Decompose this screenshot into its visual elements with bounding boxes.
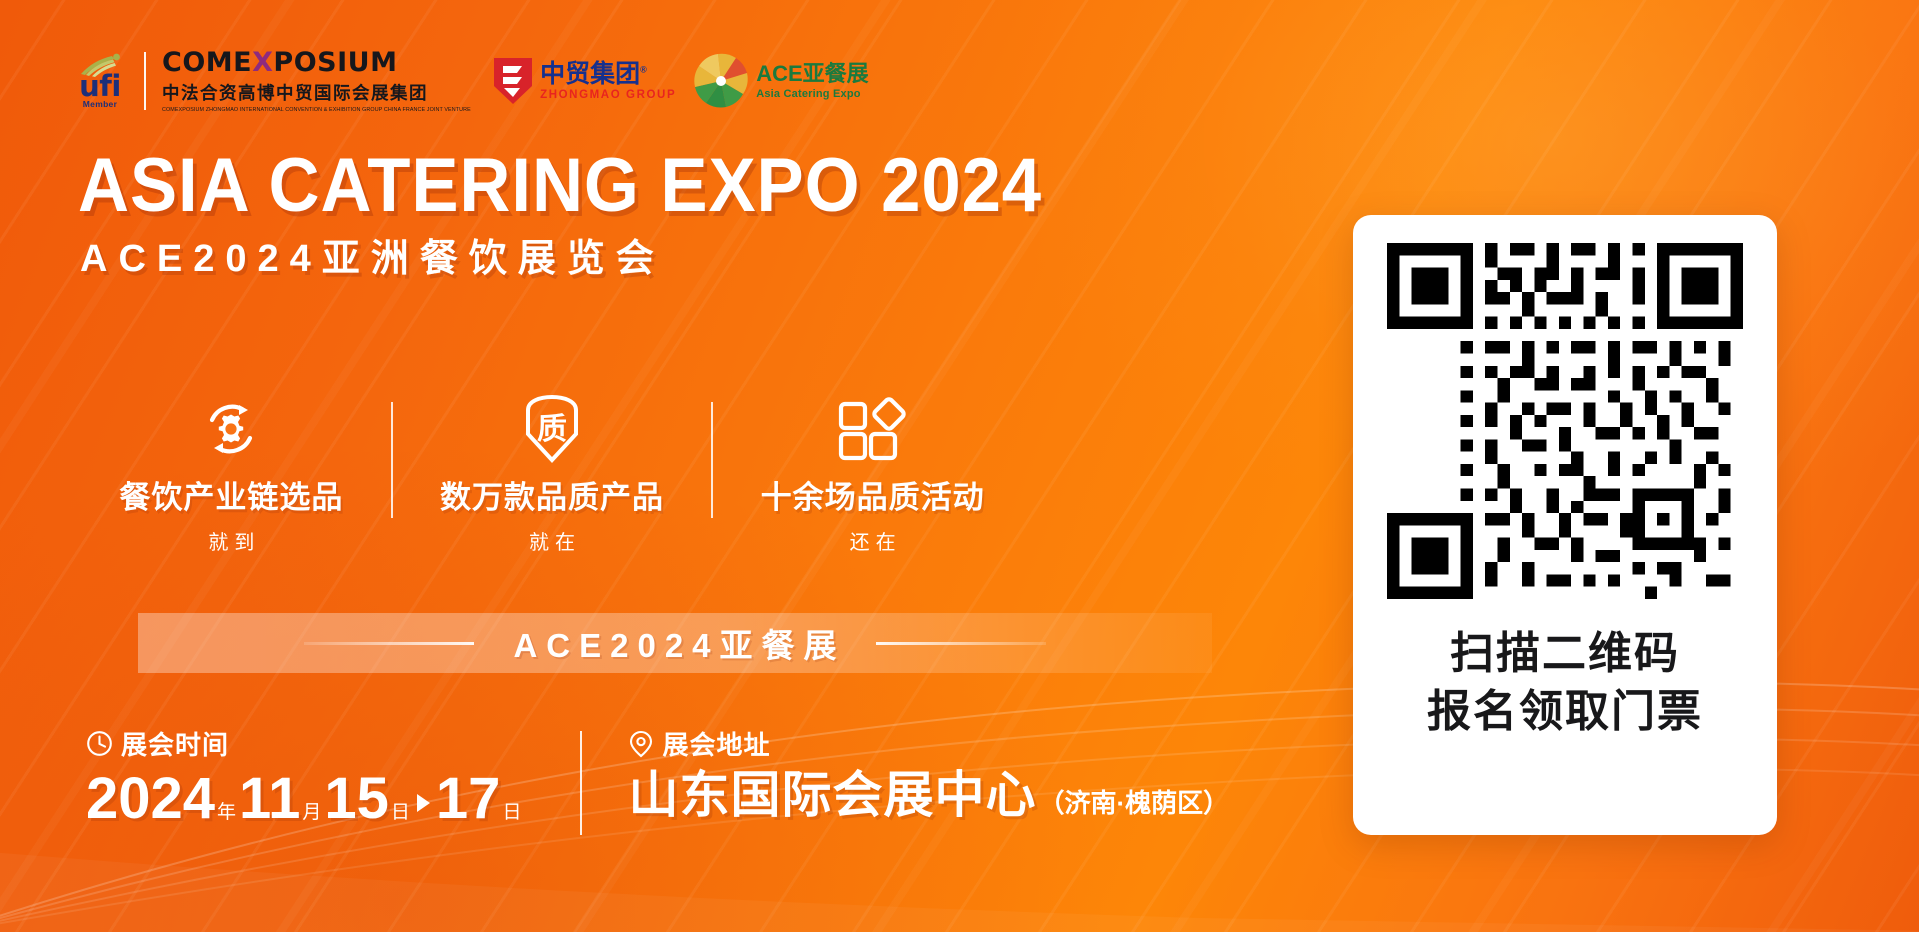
- date-day-start: 15: [324, 770, 389, 828]
- feature-item-quality-products: 质 数万款品质产品 就在: [393, 398, 712, 555]
- partner-logo-row: ufi Member COMEXPOSIUM 中法合资高博中贸国际会展集团 CO…: [72, 44, 869, 118]
- event-date-header: 展会时间: [86, 725, 524, 762]
- zhongmao-registered-mark: ®: [640, 64, 647, 74]
- feature-subtitle: 还在: [844, 526, 902, 555]
- ace-cn-name: ACE亚餐展: [756, 63, 868, 85]
- date-year: 2024: [86, 770, 215, 828]
- comex-word-left: COME: [162, 47, 252, 78]
- promo-banner: ufi Member COMEXPOSIUM 中法合资高博中贸国际会展集团 CO…: [0, 0, 1919, 932]
- shield-quality-icon: 质: [523, 398, 581, 460]
- feature-subtitle: 就到: [202, 526, 260, 555]
- feature-title: 十余场品质活动: [761, 472, 985, 517]
- qr-signup-card[interactable]: 扫描二维码 报名领取门票: [1353, 215, 1777, 835]
- date-day-end: 17: [436, 770, 501, 828]
- comexposium-cn-name: 中法合资高博中贸国际会展集团: [162, 80, 477, 105]
- ufi-logo: ufi Member: [72, 53, 128, 110]
- gear-cycle-icon: [198, 398, 264, 460]
- zhongmao-mark-icon: [491, 56, 535, 106]
- headline-title-cn: ACE2024亚洲餐饮展览会: [80, 240, 665, 278]
- ufi-member-label: Member: [83, 99, 117, 109]
- event-venue-header: 展会地址: [628, 725, 1229, 762]
- qr-caption: 扫描二维码 报名领取门票: [1427, 625, 1703, 741]
- zhongmao-en-name: ZHONGMAO GROUP: [540, 89, 676, 101]
- feature-title: 餐饮产业链选品: [119, 472, 343, 517]
- qr-caption-line1: 扫描二维码: [1427, 625, 1703, 683]
- feature-subtitle: 就在: [523, 526, 581, 555]
- strip-line-right: [876, 642, 1046, 645]
- comexposium-wordmark: COMEXPOSIUM: [162, 49, 477, 76]
- date-year-unit: 年: [217, 797, 236, 824]
- event-venue-label: 展会地址: [662, 725, 770, 762]
- ace-en-name: Asia Catering Expo: [756, 88, 868, 100]
- venue-name: 山东国际会展中心: [628, 770, 1036, 820]
- qr-code-icon[interactable]: [1387, 243, 1743, 599]
- svg-text:质: 质: [537, 413, 567, 446]
- event-date-label: 展会时间: [121, 725, 229, 762]
- squares-diamond-icon: [837, 398, 909, 460]
- ace-text: ACE亚餐展 Asia Catering Expo: [756, 63, 868, 100]
- event-venue-value: 山东国际会展中心 （济南·槐荫区）: [628, 770, 1229, 820]
- event-date-block: 展会时间 2024 年 11 月 15 日 17 日: [86, 725, 524, 828]
- headline-title-en: ASIA CATERING EXPO 2024: [78, 148, 1042, 224]
- comex-word-right: POSIUM: [273, 47, 397, 78]
- ace-logo: ACE亚餐展 Asia Catering Expo: [692, 52, 868, 110]
- comexposium-en-name: COMEXPOSIUM ZHONGMAO INTERNATIONAL CONVE…: [162, 107, 471, 113]
- clock-icon: [86, 730, 113, 757]
- info-separator: [580, 731, 582, 835]
- zhongmao-text: 中贸集团® ZHONGMAO GROUP: [540, 62, 676, 101]
- qr-caption-line2: 报名领取门票: [1427, 683, 1703, 741]
- feature-list: 餐饮产业链选品 就到 质 数万款品质产品 就在: [72, 398, 1032, 516]
- date-month: 11: [239, 770, 300, 828]
- strip-text: ACE2024亚餐展: [504, 619, 845, 667]
- event-name-strip: ACE2024亚餐展: [138, 613, 1212, 673]
- zhongmao-cn-name: 中贸集团®: [540, 62, 676, 87]
- comexposium-logo: COMEXPOSIUM 中法合资高博中贸国际会展集团 COMEXPOSIUM Z…: [162, 49, 477, 113]
- ace-pinwheel-icon: [692, 52, 750, 110]
- event-venue-block: 展会地址 山东国际会展中心 （济南·槐荫区）: [628, 725, 1229, 820]
- date-day-start-unit: 日: [391, 797, 410, 824]
- feature-item-supply-chain: 餐饮产业链选品 就到: [72, 398, 391, 555]
- venue-district: （济南·槐荫区）: [1038, 783, 1229, 820]
- zhongmao-logo: 中贸集团® ZHONGMAO GROUP: [491, 56, 676, 106]
- comex-word-x: X: [252, 47, 273, 78]
- feature-title: 数万款品质产品: [440, 472, 664, 517]
- ufi-wordmark: ufi: [79, 74, 121, 99]
- location-pin-icon: [628, 730, 654, 758]
- strip-line-left: [304, 642, 474, 645]
- event-date-value: 2024 年 11 月 15 日 17 日: [86, 770, 524, 828]
- feature-item-quality-events: 十余场品质活动 还在: [713, 398, 1032, 555]
- event-info-row: 展会时间 2024 年 11 月 15 日 17 日 展会地址: [86, 725, 1229, 835]
- date-month-unit: 月: [302, 797, 321, 824]
- zhongmao-cn-label: 中贸集团: [540, 60, 640, 88]
- logo-divider: [144, 52, 146, 110]
- date-day-end-unit: 日: [502, 797, 521, 824]
- date-range-arrow-icon: [417, 794, 430, 812]
